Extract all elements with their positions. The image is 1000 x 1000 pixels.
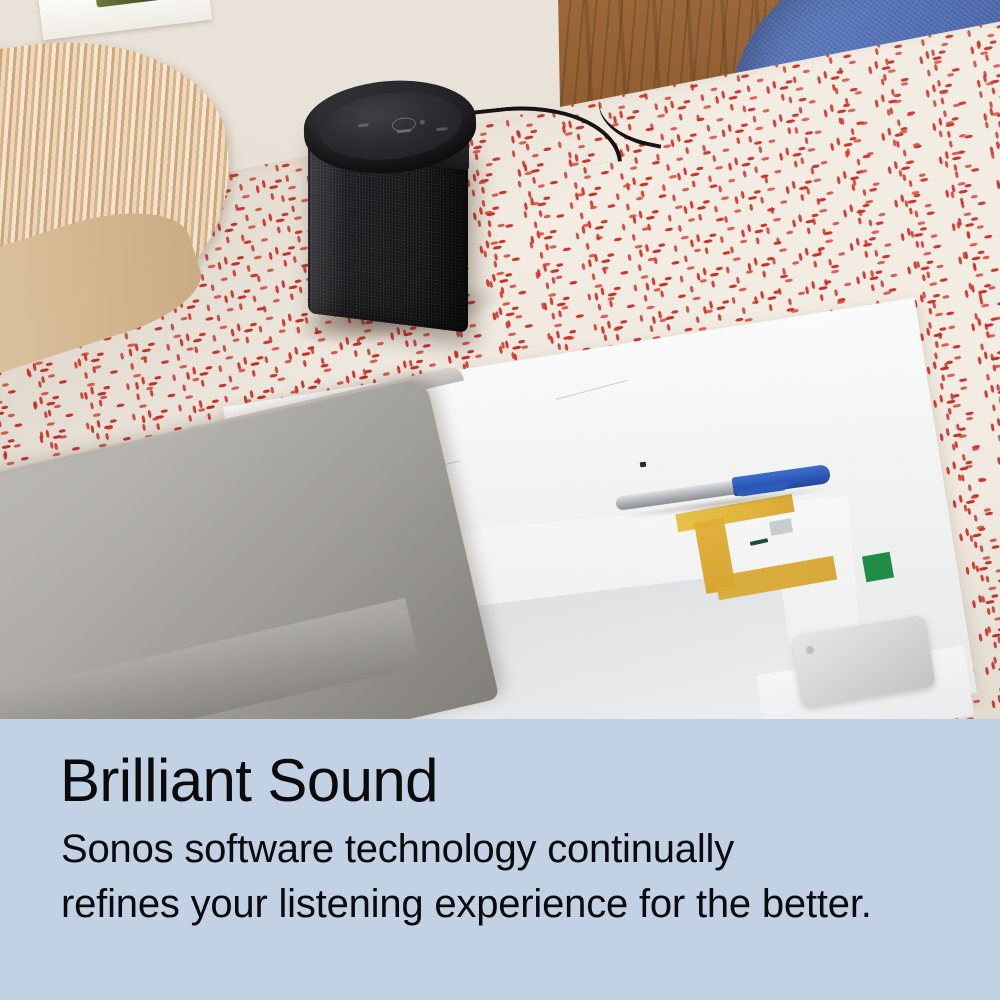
volume-down-icon[interactable] [358, 123, 369, 127]
caption-subtitle-line1: Sonos software technology continually [61, 829, 734, 869]
microphone-icon[interactable] [420, 119, 425, 124]
product-photo: SONOS [0, 0, 1000, 720]
screenshot-root: SONOS Brilliant Sound Sonos software tec… [0, 0, 1000, 1000]
paper-mark-1 [640, 462, 647, 468]
volume-up-icon[interactable] [436, 127, 447, 131]
page-title: Brilliant Sound [60, 751, 438, 811]
caption-panel: Brilliant Sound Sonos software technolog… [0, 719, 1000, 1000]
sonos-speaker: SONOS [302, 75, 478, 325]
speaker-touch-surface[interactable] [318, 86, 464, 167]
caption-subtitle-line2: refines your listening experience for th… [61, 884, 872, 924]
green-square [862, 552, 894, 582]
top-left-paper [38, 0, 212, 40]
caption-inner: Brilliant Sound Sonos software technolog… [0, 719, 1000, 1000]
play-pause-bar-icon[interactable] [396, 129, 411, 134]
